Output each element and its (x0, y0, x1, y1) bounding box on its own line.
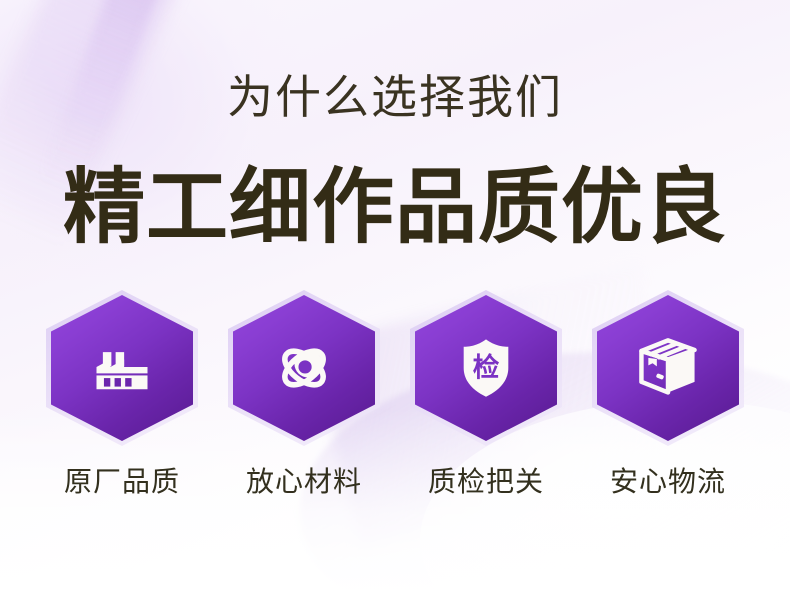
hexagon-badge (228, 290, 380, 446)
package-box-icon (634, 334, 702, 402)
feature-item-quality-inspection: 检 质检把关 (400, 290, 572, 498)
feature-label: 安心物流 (610, 466, 726, 498)
poster-subtitle: 为什么选择我们 (0, 72, 790, 122)
feature-item-original-factory-quality: 原厂品质 (36, 290, 208, 498)
feature-label: 放心材料 (246, 466, 362, 498)
hexagon-badge (592, 290, 744, 446)
hexagon-badge (46, 290, 198, 446)
factory-icon (88, 334, 156, 402)
feature-list: 原厂品质 放心材料 (36, 290, 754, 498)
poster-main-title: 精工细作品质优良 (0, 162, 790, 254)
shield-inspection-icon: 检 (452, 334, 520, 402)
hexagon-badge: 检 (410, 290, 562, 446)
feature-label: 原厂品质 (64, 466, 180, 498)
feature-label: 质检把关 (428, 466, 544, 498)
atom-icon (270, 334, 338, 402)
promo-poster: 为什么选择我们 精工细作品质优良 (0, 0, 790, 599)
shield-icon-text: 检 (473, 353, 500, 383)
feature-item-worryfree-logistics: 安心物流 (582, 290, 754, 498)
feature-item-reliable-materials: 放心材料 (218, 290, 390, 498)
